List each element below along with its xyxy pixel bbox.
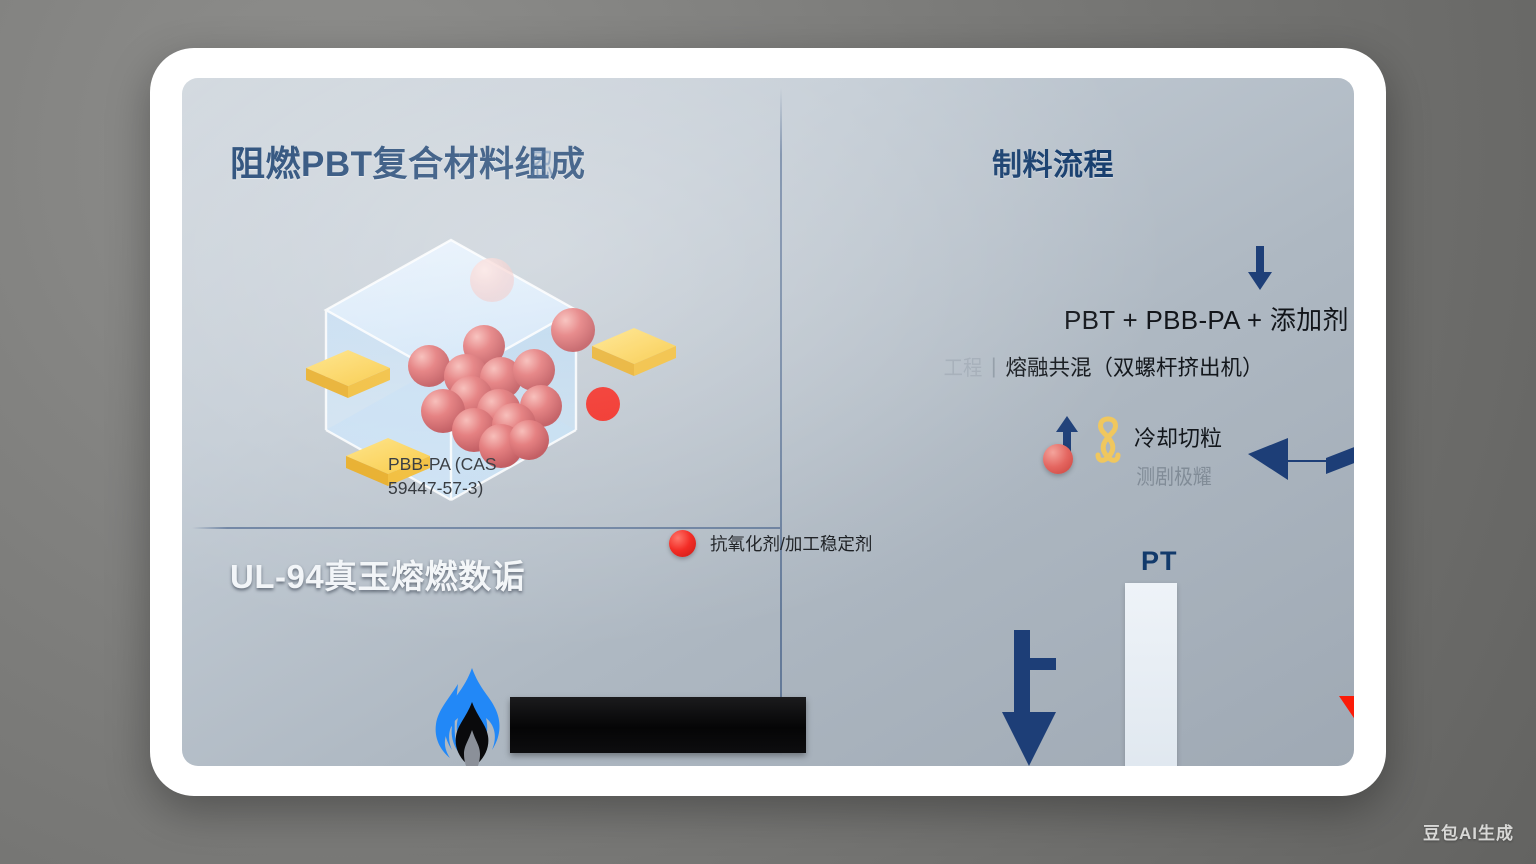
title-glyph-artifact: 忍: [530, 140, 554, 184]
process-step-blend-row: 工程 | 熔融共混（双螺杆挤出机）: [942, 351, 1263, 382]
ul94-title: UL-94真玉熔燃数诟: [230, 550, 525, 598]
yellow-platelet-icon: [592, 328, 676, 376]
infographic-inner-panel: 阻燃PBT复合材料组成 忍: [182, 78, 1354, 766]
antioxidant-legend-label: 抗氧化剂/加工稳定剂: [710, 531, 872, 556]
watermark: 豆包AI生成: [1423, 819, 1514, 844]
infographic-card: 阻燃PBT复合材料组成 忍: [150, 48, 1386, 796]
process-title: 制料流程: [992, 140, 1114, 184]
process-step-materials: PBT + PBB-PA + 添加剂: [1064, 300, 1349, 337]
loi-bar: [1125, 583, 1177, 766]
cas-label: PBB-PA (CAS 59447-57-3): [388, 453, 518, 500]
process-step-blend-label: 熔融共混（双螺杆挤出机）: [1005, 351, 1263, 382]
pellet-dot-icon: [1043, 444, 1073, 474]
red-sphere-icon: [586, 387, 620, 421]
arrow-down-navy-icon: [1000, 630, 1058, 766]
process-ghost-label: 工程: [944, 352, 983, 382]
bent-arrow-left-icon: [1248, 402, 1354, 488]
black-specimen-bar: [510, 697, 806, 753]
antioxidant-legend: 抗氧化剂/加工稳定剂: [669, 530, 872, 557]
arrow-down-icon: [1244, 246, 1276, 290]
process-step-cool-ghost-label: 测剧极耀: [1136, 461, 1212, 491]
loi-bar-label: PT: [1141, 546, 1178, 577]
composition-illustration: PBB-PA (CAS 59447-57-3): [196, 208, 776, 520]
arrow-down-red-icon: [1337, 646, 1354, 766]
vertical-divider: [780, 88, 782, 756]
polymer-chain-icon: [1094, 415, 1122, 473]
horizontal-divider: [192, 527, 780, 529]
process-step-cool-label: 冷却切粒: [1134, 421, 1222, 453]
red-sphere-icon: [669, 530, 696, 557]
process-separator: |: [991, 355, 996, 379]
ul94-illustration: [418, 666, 806, 766]
sphere-ghost-icon: [470, 258, 514, 302]
sphere-outside-icon: [551, 308, 595, 352]
